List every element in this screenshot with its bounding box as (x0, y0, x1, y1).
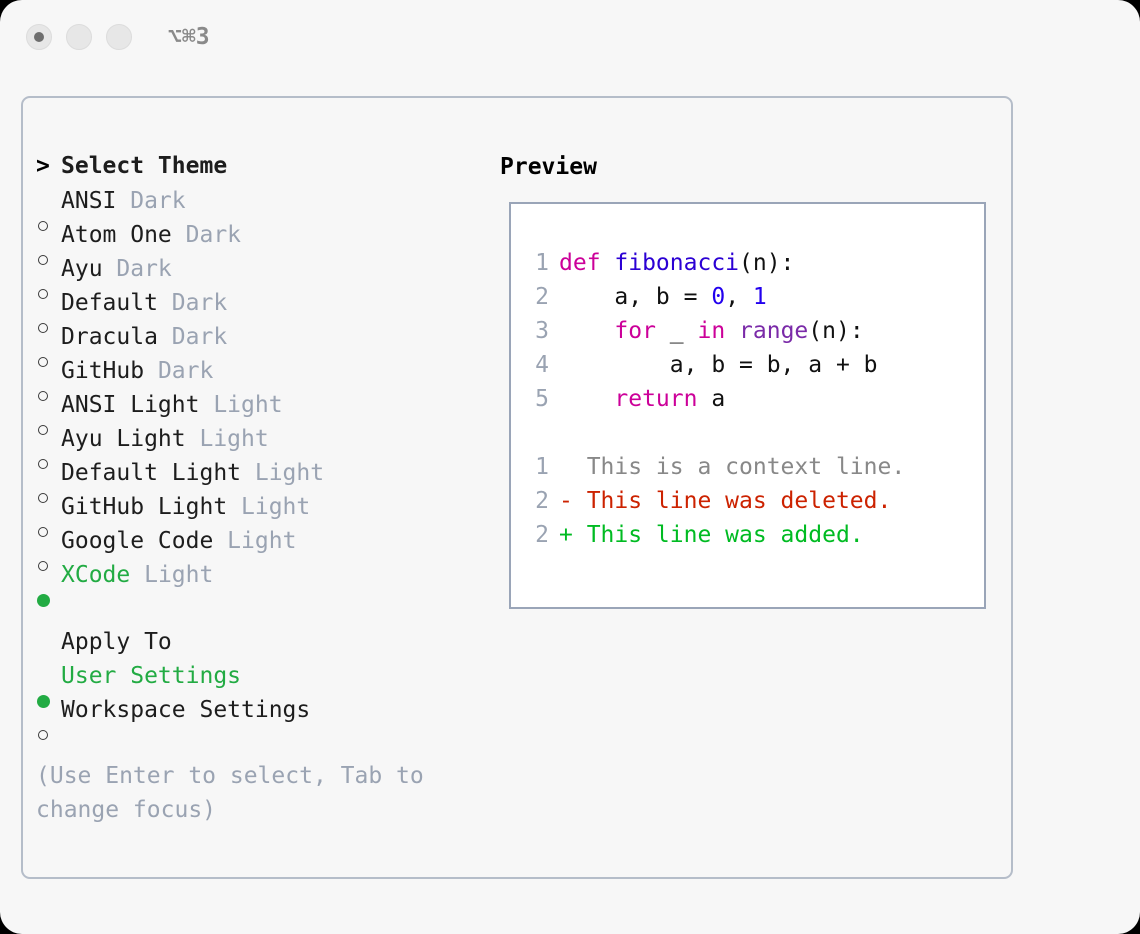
code-token: (n): (739, 250, 794, 276)
theme-variant-label: Dark (172, 218, 241, 252)
diff-line: 2- This line was deleted. (525, 484, 905, 518)
theme-variant-label: Dark (144, 354, 213, 388)
code-token: _ (656, 318, 698, 344)
apply-to-option-label: Workspace Settings (61, 693, 310, 727)
diff-line-text: + This line was added. (559, 518, 864, 552)
code-line: 2 a, b = 0, 1 (525, 280, 905, 314)
preview-title: Preview (500, 152, 597, 182)
code-line-number: 4 (525, 348, 559, 382)
diff-line-text: - This line was deleted. (559, 484, 891, 518)
code-token: a, b = b, a + b (559, 352, 878, 378)
theme-list-item[interactable]: Google Code Light (36, 524, 466, 558)
code-token: a, b = (559, 284, 711, 310)
code-line-number: 1 (525, 246, 559, 280)
theme-variant-label: Dark (158, 286, 227, 320)
caret-icon: > (36, 148, 61, 184)
apply-to-section: Apply To User SettingsWorkspace Settings (36, 625, 466, 727)
code-line: 4 a, b = b, a + b (525, 348, 905, 382)
theme-variant-label: Light (130, 558, 213, 592)
keyboard-shortcut-label: ⌥⌘3 (168, 22, 210, 52)
code-line-number: 2 (525, 280, 559, 314)
code-line-text: for _ in range(n): (559, 314, 864, 348)
preview-box: 1def fibonacci(n):2 a, b = 0, 13 for _ i… (509, 202, 986, 609)
keyboard-hint-text: (Use Enter to select, Tab to change focu… (36, 759, 456, 827)
code-token: return (614, 386, 697, 412)
diff-line: 2+ This line was added. (525, 518, 905, 552)
code-line-number: 5 (525, 382, 559, 416)
theme-name-label: Atom One (61, 218, 172, 252)
theme-name-label: Ayu Light (61, 422, 186, 456)
theme-variant-label: Dark (158, 320, 227, 354)
theme-name-label: GitHub Light (61, 490, 227, 524)
code-line-text: return a (559, 382, 725, 416)
code-line: 5 return a (525, 382, 905, 416)
code-token: 1 (753, 284, 767, 310)
code-line: 3 for _ in range(n): (525, 314, 905, 348)
window-dot-2[interactable] (66, 24, 92, 50)
diff-line-number: 1 (525, 450, 559, 484)
window-dot-3[interactable] (106, 24, 132, 50)
theme-name-label: XCode (61, 558, 130, 592)
theme-name-label: GitHub (61, 354, 144, 388)
code-spacer (525, 416, 905, 450)
theme-name-label: ANSI Light (61, 388, 199, 422)
apply-to-options: User SettingsWorkspace Settings (36, 659, 466, 727)
code-token: a (697, 386, 725, 412)
apply-to-option[interactable]: User Settings (36, 659, 466, 693)
theme-list-item[interactable]: ANSI Dark (36, 184, 466, 218)
theme-list-header-label: Select Theme (61, 148, 227, 184)
code-token: (n): (808, 318, 863, 344)
code-line-text: def fibonacci(n): (559, 246, 794, 280)
diff-line-number: 2 (525, 484, 559, 518)
theme-list-item[interactable]: Default Dark (36, 286, 466, 320)
theme-variant-label: Light (213, 524, 296, 558)
theme-variant-label: Dark (116, 184, 185, 218)
theme-name-label: ANSI (61, 184, 116, 218)
theme-list-item[interactable]: ANSI Light Light (36, 388, 466, 422)
code-token: 0 (711, 284, 725, 310)
theme-variant-label: Light (227, 490, 310, 524)
diff-line-text: This is a context line. (559, 450, 905, 484)
code-token: for (614, 318, 656, 344)
theme-list-item[interactable]: XCode Light (36, 558, 466, 592)
apply-to-header: Apply To (36, 625, 466, 659)
theme-name-label: Ayu (61, 252, 103, 286)
theme-list-item[interactable]: GitHub Light Light (36, 490, 466, 524)
theme-list-item[interactable]: GitHub Dark (36, 354, 466, 388)
theme-list: ANSI DarkAtom One DarkAyu DarkDefault Da… (36, 184, 466, 592)
preview-code: 1def fibonacci(n):2 a, b = 0, 13 for _ i… (525, 246, 905, 552)
code-token: def (559, 250, 614, 276)
code-token (725, 318, 739, 344)
code-token: , (725, 284, 753, 310)
code-token: fibonacci (614, 250, 739, 276)
theme-name-label: Google Code (61, 524, 213, 558)
code-token (559, 318, 614, 344)
window-titlebar: ⌥⌘3 (0, 0, 1140, 80)
theme-selector-column: > Select Theme ANSI DarkAtom One DarkAyu… (36, 148, 466, 827)
window-dot-active-inner (34, 32, 44, 42)
theme-list-item[interactable]: Dracula Dark (36, 320, 466, 354)
code-token (559, 386, 614, 412)
code-line-text: a, b = b, a + b (559, 348, 878, 382)
theme-variant-label: Light (186, 422, 269, 456)
apply-to-option-label: User Settings (61, 659, 241, 693)
code-token: range (739, 318, 808, 344)
window-dot-active[interactable] (26, 24, 52, 50)
theme-list-item[interactable]: Default Light Light (36, 456, 466, 490)
code-line-number: 3 (525, 314, 559, 348)
apply-to-option[interactable]: Workspace Settings (36, 693, 466, 727)
theme-name-label: Default (61, 286, 158, 320)
theme-variant-label: Light (241, 456, 324, 490)
theme-list-item[interactable]: Ayu Dark (36, 252, 466, 286)
code-token: in (697, 318, 725, 344)
theme-name-label: Dracula (61, 320, 158, 354)
theme-list-header: > Select Theme (36, 148, 466, 184)
apply-to-header-label: Apply To (61, 625, 172, 659)
theme-name-label: Default Light (61, 456, 241, 490)
diff-line: 1 This is a context line. (525, 450, 905, 484)
theme-list-item[interactable]: Atom One Dark (36, 218, 466, 252)
diff-line-number: 2 (525, 518, 559, 552)
theme-variant-label: Dark (103, 252, 172, 286)
code-line-text: a, b = 0, 1 (559, 280, 767, 314)
theme-list-item[interactable]: Ayu Light Light (36, 422, 466, 456)
code-line: 1def fibonacci(n): (525, 246, 905, 280)
theme-variant-label: Light (199, 388, 282, 422)
app-window: ⌥⌘3 > Select Theme ANSI DarkAtom One Dar… (0, 0, 1140, 934)
